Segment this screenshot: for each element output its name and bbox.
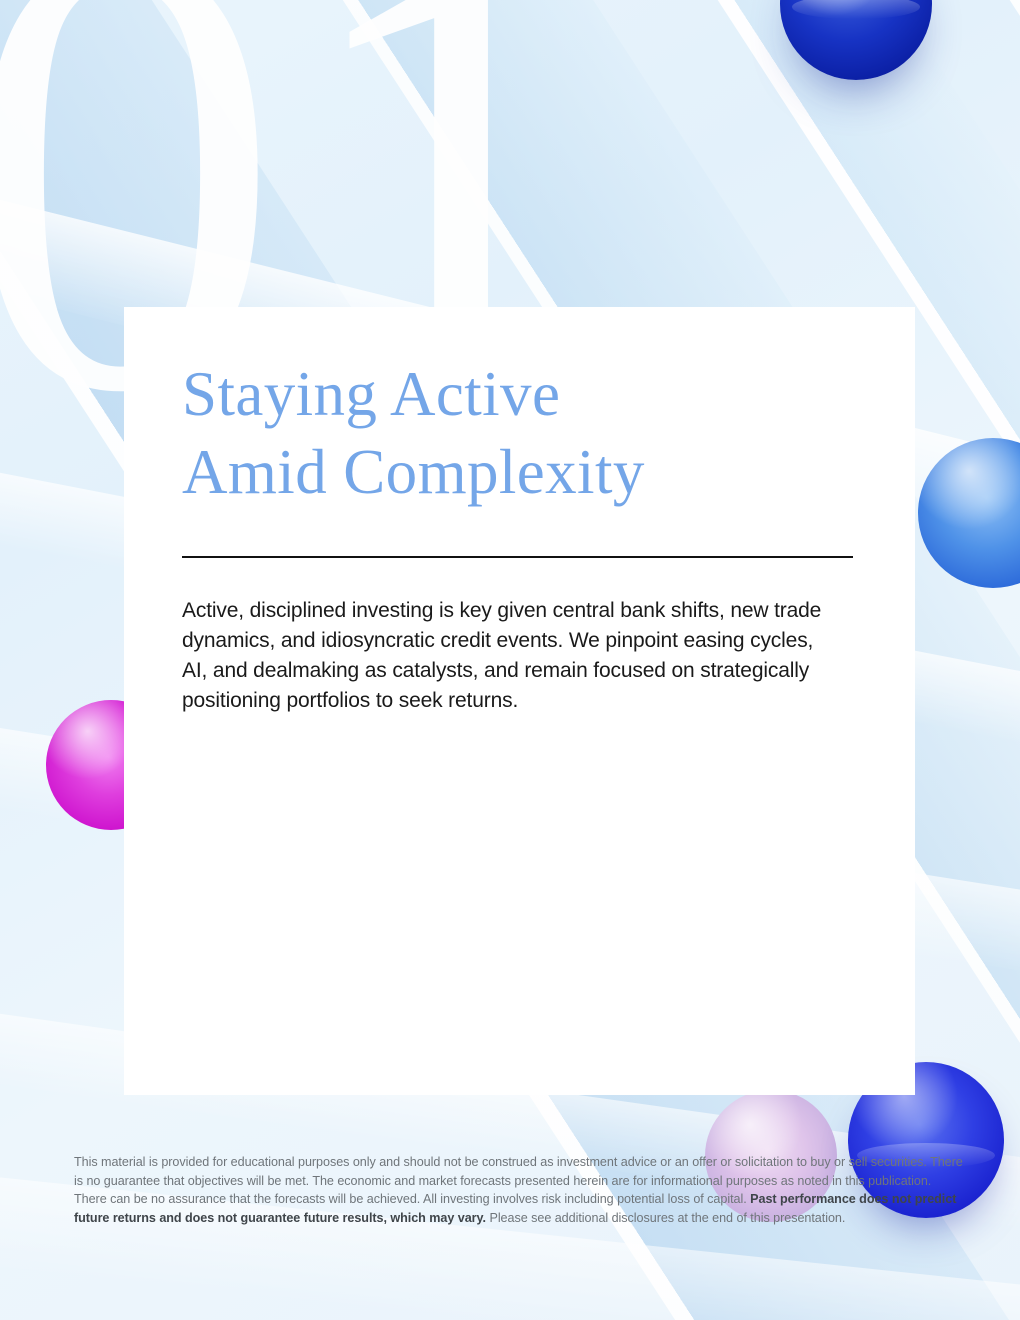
page-title-line-1: Staying Active: [182, 355, 853, 433]
title-divider: [182, 556, 853, 558]
disclaimer-tail: Please see additional disclosures at the…: [486, 1211, 845, 1225]
disclaimer-text: This material is provided for educationa…: [74, 1153, 964, 1227]
page-title-line-2: Amid Complexity: [182, 433, 853, 511]
slide-page: 01 Staying Active Amid Complexity Active…: [0, 0, 1020, 1320]
content-card: Staying Active Amid Complexity Active, d…: [124, 307, 915, 1095]
content-card-inner: Staying Active Amid Complexity Active, d…: [124, 307, 915, 716]
page-title: Staying Active Amid Complexity: [182, 355, 853, 511]
section-body-text: Active, disciplined investing is key giv…: [182, 596, 827, 716]
